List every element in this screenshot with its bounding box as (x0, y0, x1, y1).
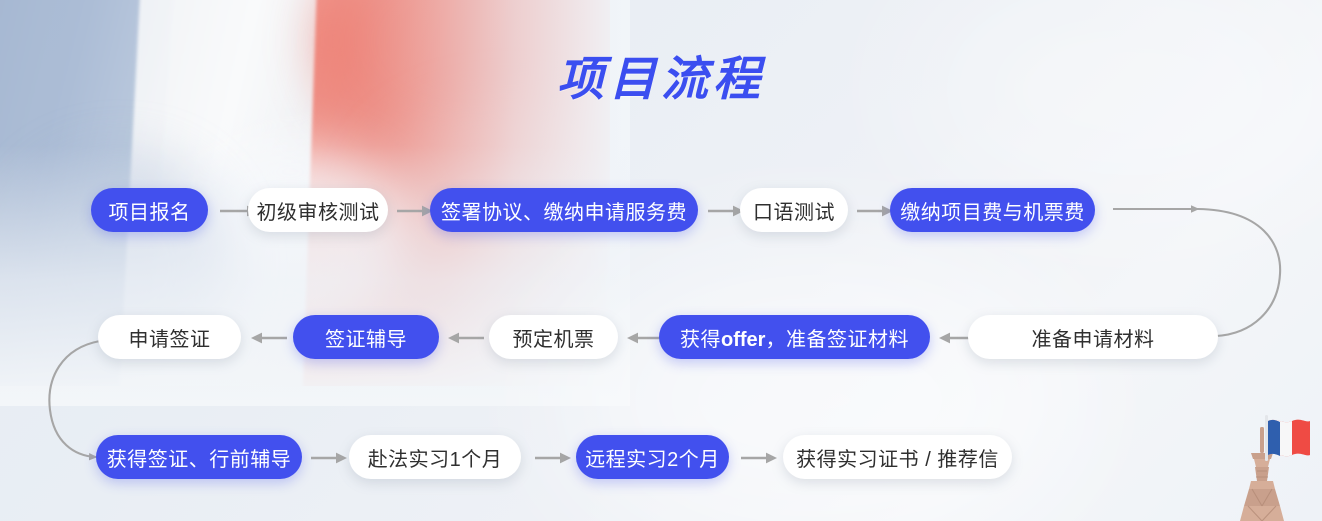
arrow-row3-2-to-3 (534, 448, 572, 468)
arrow-row2-3-to-2 (447, 328, 485, 348)
flow-step-label: 初级审核测试 (257, 196, 380, 225)
connector-row2-to-row3 (49, 341, 100, 457)
flow-step-row3-4[interactable]: 获得实习证书 / 推荐信 (783, 435, 1012, 479)
eiffel-tower-flag-icon (1218, 409, 1314, 521)
flow-step-label: 获得签证、行前辅导 (107, 443, 292, 472)
flow-step-row1-1[interactable]: 项目报名 (91, 188, 208, 232)
flow-step-row2-5[interactable]: 准备申请材料 (968, 315, 1218, 359)
flow-step-label: 申请签证 (129, 323, 211, 352)
flow-step-label: 赴法实习1个月 (368, 443, 503, 472)
flow-step-label: 缴纳项目费与机票费 (900, 196, 1085, 225)
flow-step-row1-3[interactable]: 签署协议、缴纳申请服务费 (430, 188, 698, 232)
background-glow (560, 250, 1080, 521)
flow-step-row3-1[interactable]: 获得签证、行前辅导 (96, 435, 302, 479)
flow-step-row3-2[interactable]: 赴法实习1个月 (349, 435, 521, 479)
arrow-row1-4-to-5 (856, 201, 894, 221)
background-glow (900, 0, 1322, 220)
flow-step-label: 项目报名 (109, 196, 191, 225)
flow-step-row3-3[interactable]: 远程实习2个月 (576, 435, 729, 479)
flow-step-label: 预定机票 (513, 323, 595, 352)
flow-step-row2-4[interactable]: 获得offer，准备签证材料 (659, 315, 930, 359)
flow-step-label: 获得实习证书 / 推荐信 (796, 443, 999, 472)
arrow-row2-2-to-1 (250, 328, 288, 348)
arrow-row3-3-to-4 (740, 448, 778, 468)
flow-step-label: 远程实习2个月 (585, 443, 720, 472)
flow-step-row1-4[interactable]: 口语测试 (740, 188, 848, 232)
flow-step-label: 准备申请材料 (1032, 323, 1155, 352)
flow-step-row1-5[interactable]: 缴纳项目费与机票费 (890, 188, 1095, 232)
flow-step-label: 签署协议、缴纳申请服务费 (441, 196, 687, 225)
page-title: 项目流程 (0, 52, 1322, 106)
flow-step-row2-1[interactable]: 申请签证 (98, 315, 241, 359)
flow-step-row2-3[interactable]: 预定机票 (489, 315, 618, 359)
flow-step-row1-2[interactable]: 初级审核测试 (248, 188, 388, 232)
flow-step-label: 签证辅导 (325, 323, 407, 352)
arrow-row3-1-to-2 (310, 448, 348, 468)
arrow-row1-2-to-3 (396, 201, 434, 221)
flow-step-label: 获得offer，准备签证材料 (680, 323, 909, 352)
flow-step-label: 口语测试 (753, 196, 835, 225)
flowchart-canvas: 项目流程 项目报名 初级审核测试 (0, 0, 1322, 521)
flow-step-row2-2[interactable]: 签证辅导 (293, 315, 439, 359)
